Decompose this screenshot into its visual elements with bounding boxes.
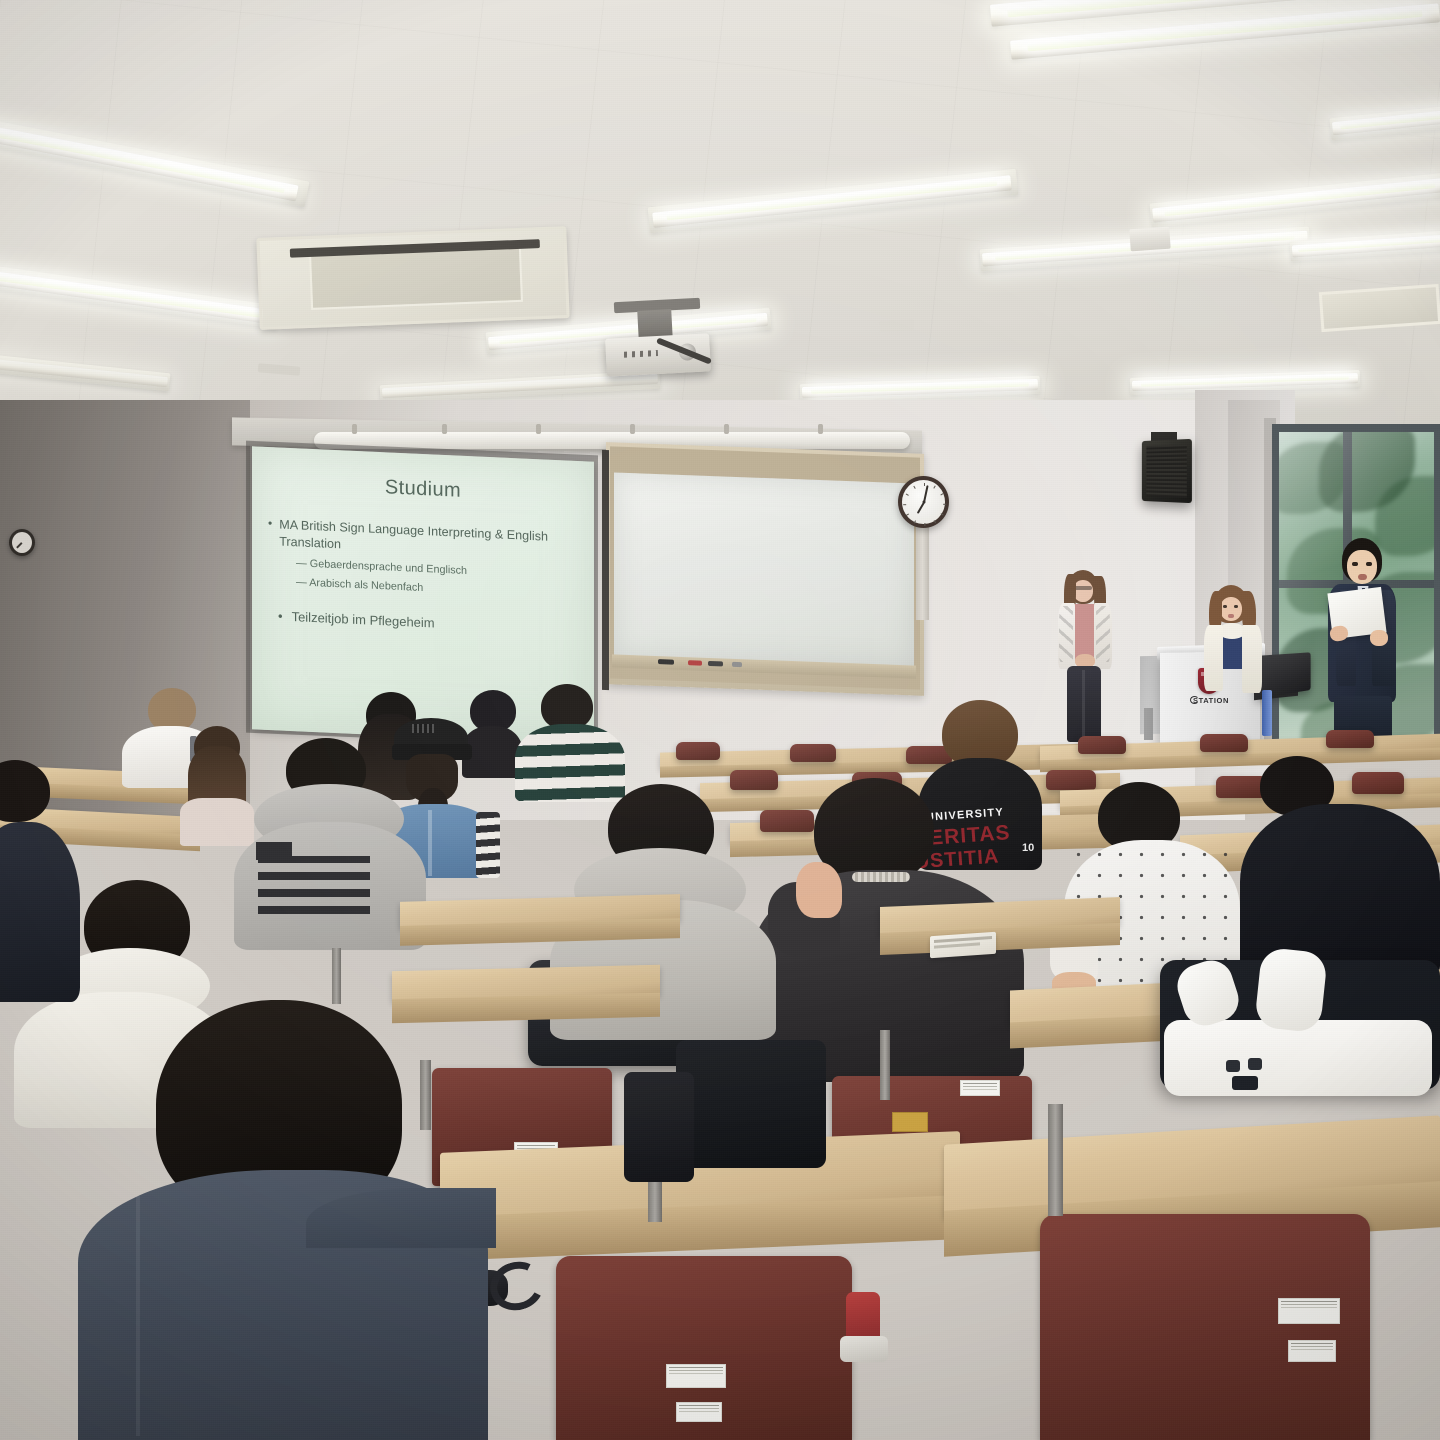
presenter-left-woman [1050, 570, 1120, 746]
student-hand [796, 862, 842, 918]
chair-foreground [556, 1256, 852, 1440]
student-striped-sleeve [476, 812, 500, 878]
desk-leg [1048, 1104, 1063, 1216]
ceiling-sensor-box [1129, 227, 1170, 252]
student-suit [0, 822, 80, 1002]
asset-tag-sticker [1278, 1298, 1340, 1324]
chair [1200, 734, 1248, 752]
backpack-white-panel [1164, 1020, 1432, 1096]
asset-tag-sticker [892, 1112, 928, 1132]
presenter-hand [1370, 630, 1388, 646]
wall-mounted-loudspeaker [1142, 439, 1192, 503]
whiteboard-marker [658, 659, 674, 665]
whiteboard-left-edge [602, 450, 609, 690]
whiteboard-eraser [732, 662, 742, 667]
student-foreground-suit [16, 1000, 486, 1440]
student-left-edge-suit [0, 760, 80, 1000]
chair [676, 742, 720, 760]
chair [1326, 730, 1374, 748]
ceiling-sensor-box [880, 319, 915, 332]
desk-leg [332, 948, 341, 1004]
presenter-mouth [1358, 574, 1367, 580]
chair [790, 744, 836, 762]
small-wall-clock [9, 529, 35, 556]
sub-bullet-marker: — [296, 557, 307, 569]
asset-tag-sticker [960, 1080, 1000, 1096]
backpack-buckle [1226, 1060, 1240, 1072]
wall-clock [898, 476, 949, 528]
lectern-leg [1144, 708, 1153, 740]
student-cap-logo [412, 724, 434, 733]
whiteboard [614, 472, 914, 668]
presenter-jacket-pattern [1059, 606, 1073, 662]
bullet-marker: • [278, 608, 283, 623]
shoe-sole [840, 1336, 888, 1362]
backpack-strap [1254, 947, 1328, 1033]
whiteboard-marker [688, 660, 702, 666]
backpack-buckle [1248, 1058, 1262, 1070]
presenter-face [1073, 580, 1093, 602]
ceiling-air-conditioner-vent [256, 226, 569, 330]
presenter-right-man [1310, 538, 1408, 754]
presenter-jacket-pattern [1096, 606, 1110, 662]
student-grey-hoodie-stripes [230, 738, 426, 948]
sub-bullet-marker: — [296, 576, 307, 588]
chair-foreground [1040, 1214, 1370, 1440]
student-hoodie-graphic [258, 856, 370, 914]
ceiling-air-conditioner-vent [1319, 284, 1440, 332]
student-vest-seam [428, 810, 432, 876]
asset-tag-sticker [666, 1364, 726, 1388]
chair [1078, 736, 1126, 754]
slide-title: Studium [268, 471, 578, 508]
headphones-on-desk [484, 1255, 550, 1317]
sub-bullet-text: Gebaerdensprache und Englisch [310, 558, 467, 577]
asset-tag-sticker [1288, 1340, 1336, 1362]
bullet-marker: • [268, 516, 272, 550]
lecture-hall-photo: Studium • MA British Sign Language Inter… [0, 0, 1440, 1440]
bag-under-desk [676, 1040, 826, 1168]
backpack-clip [1232, 1076, 1258, 1090]
asset-tag-sticker [676, 1402, 722, 1422]
bag-under-desk [624, 1072, 694, 1182]
presenter-center-woman [1196, 585, 1270, 750]
presenter-cardigan [1204, 625, 1223, 691]
clock-mount-stem [916, 524, 929, 620]
student-necklace [852, 872, 910, 882]
whiteboard-marker [708, 661, 723, 667]
student-hoodie-logo [256, 842, 292, 860]
student-right-grey-hoodie [1240, 756, 1440, 976]
presenter-glasses [1074, 586, 1092, 590]
student-striped-sweater [515, 684, 625, 794]
student-head [0, 760, 50, 822]
desk-leg [880, 1030, 890, 1100]
presenter-mouth [1228, 614, 1234, 618]
presenter-cardigan [1242, 625, 1262, 693]
